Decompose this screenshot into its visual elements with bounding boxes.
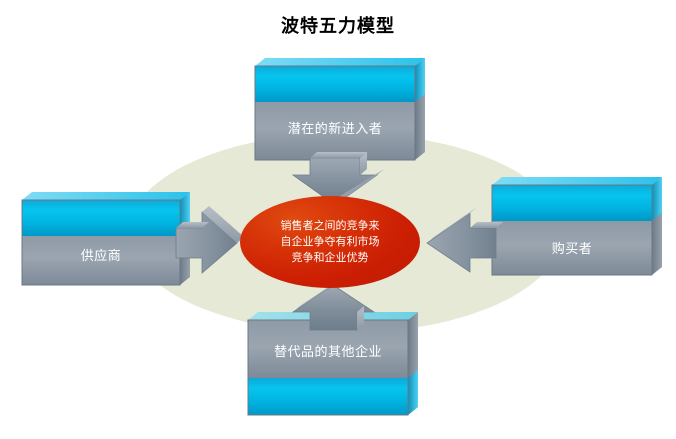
force-label-suppliers: 供应商	[22, 245, 180, 264]
force-label-new-entrants: 潜在的新进入者	[255, 118, 415, 137]
center-line-2: 自企业争夺有利市场	[281, 234, 380, 250]
center-ellipse-text: 销售者之间的竞争来 自企业争夺有利市场 竞争和企业优势	[240, 196, 420, 288]
center-line-3: 竞争和企业优势	[292, 250, 369, 266]
center-line-1: 销售者之间的竞争来	[281, 218, 380, 234]
force-box-suppliers[interactable]	[22, 192, 190, 285]
diagram-canvas: 波特五力模型	[0, 0, 676, 439]
force-box-buyers[interactable]	[492, 177, 662, 275]
force-label-buyers: 购买者	[492, 238, 652, 257]
force-label-substitutes: 替代品的其他企业	[248, 341, 408, 360]
force-box-new-entrants[interactable]	[255, 58, 425, 160]
